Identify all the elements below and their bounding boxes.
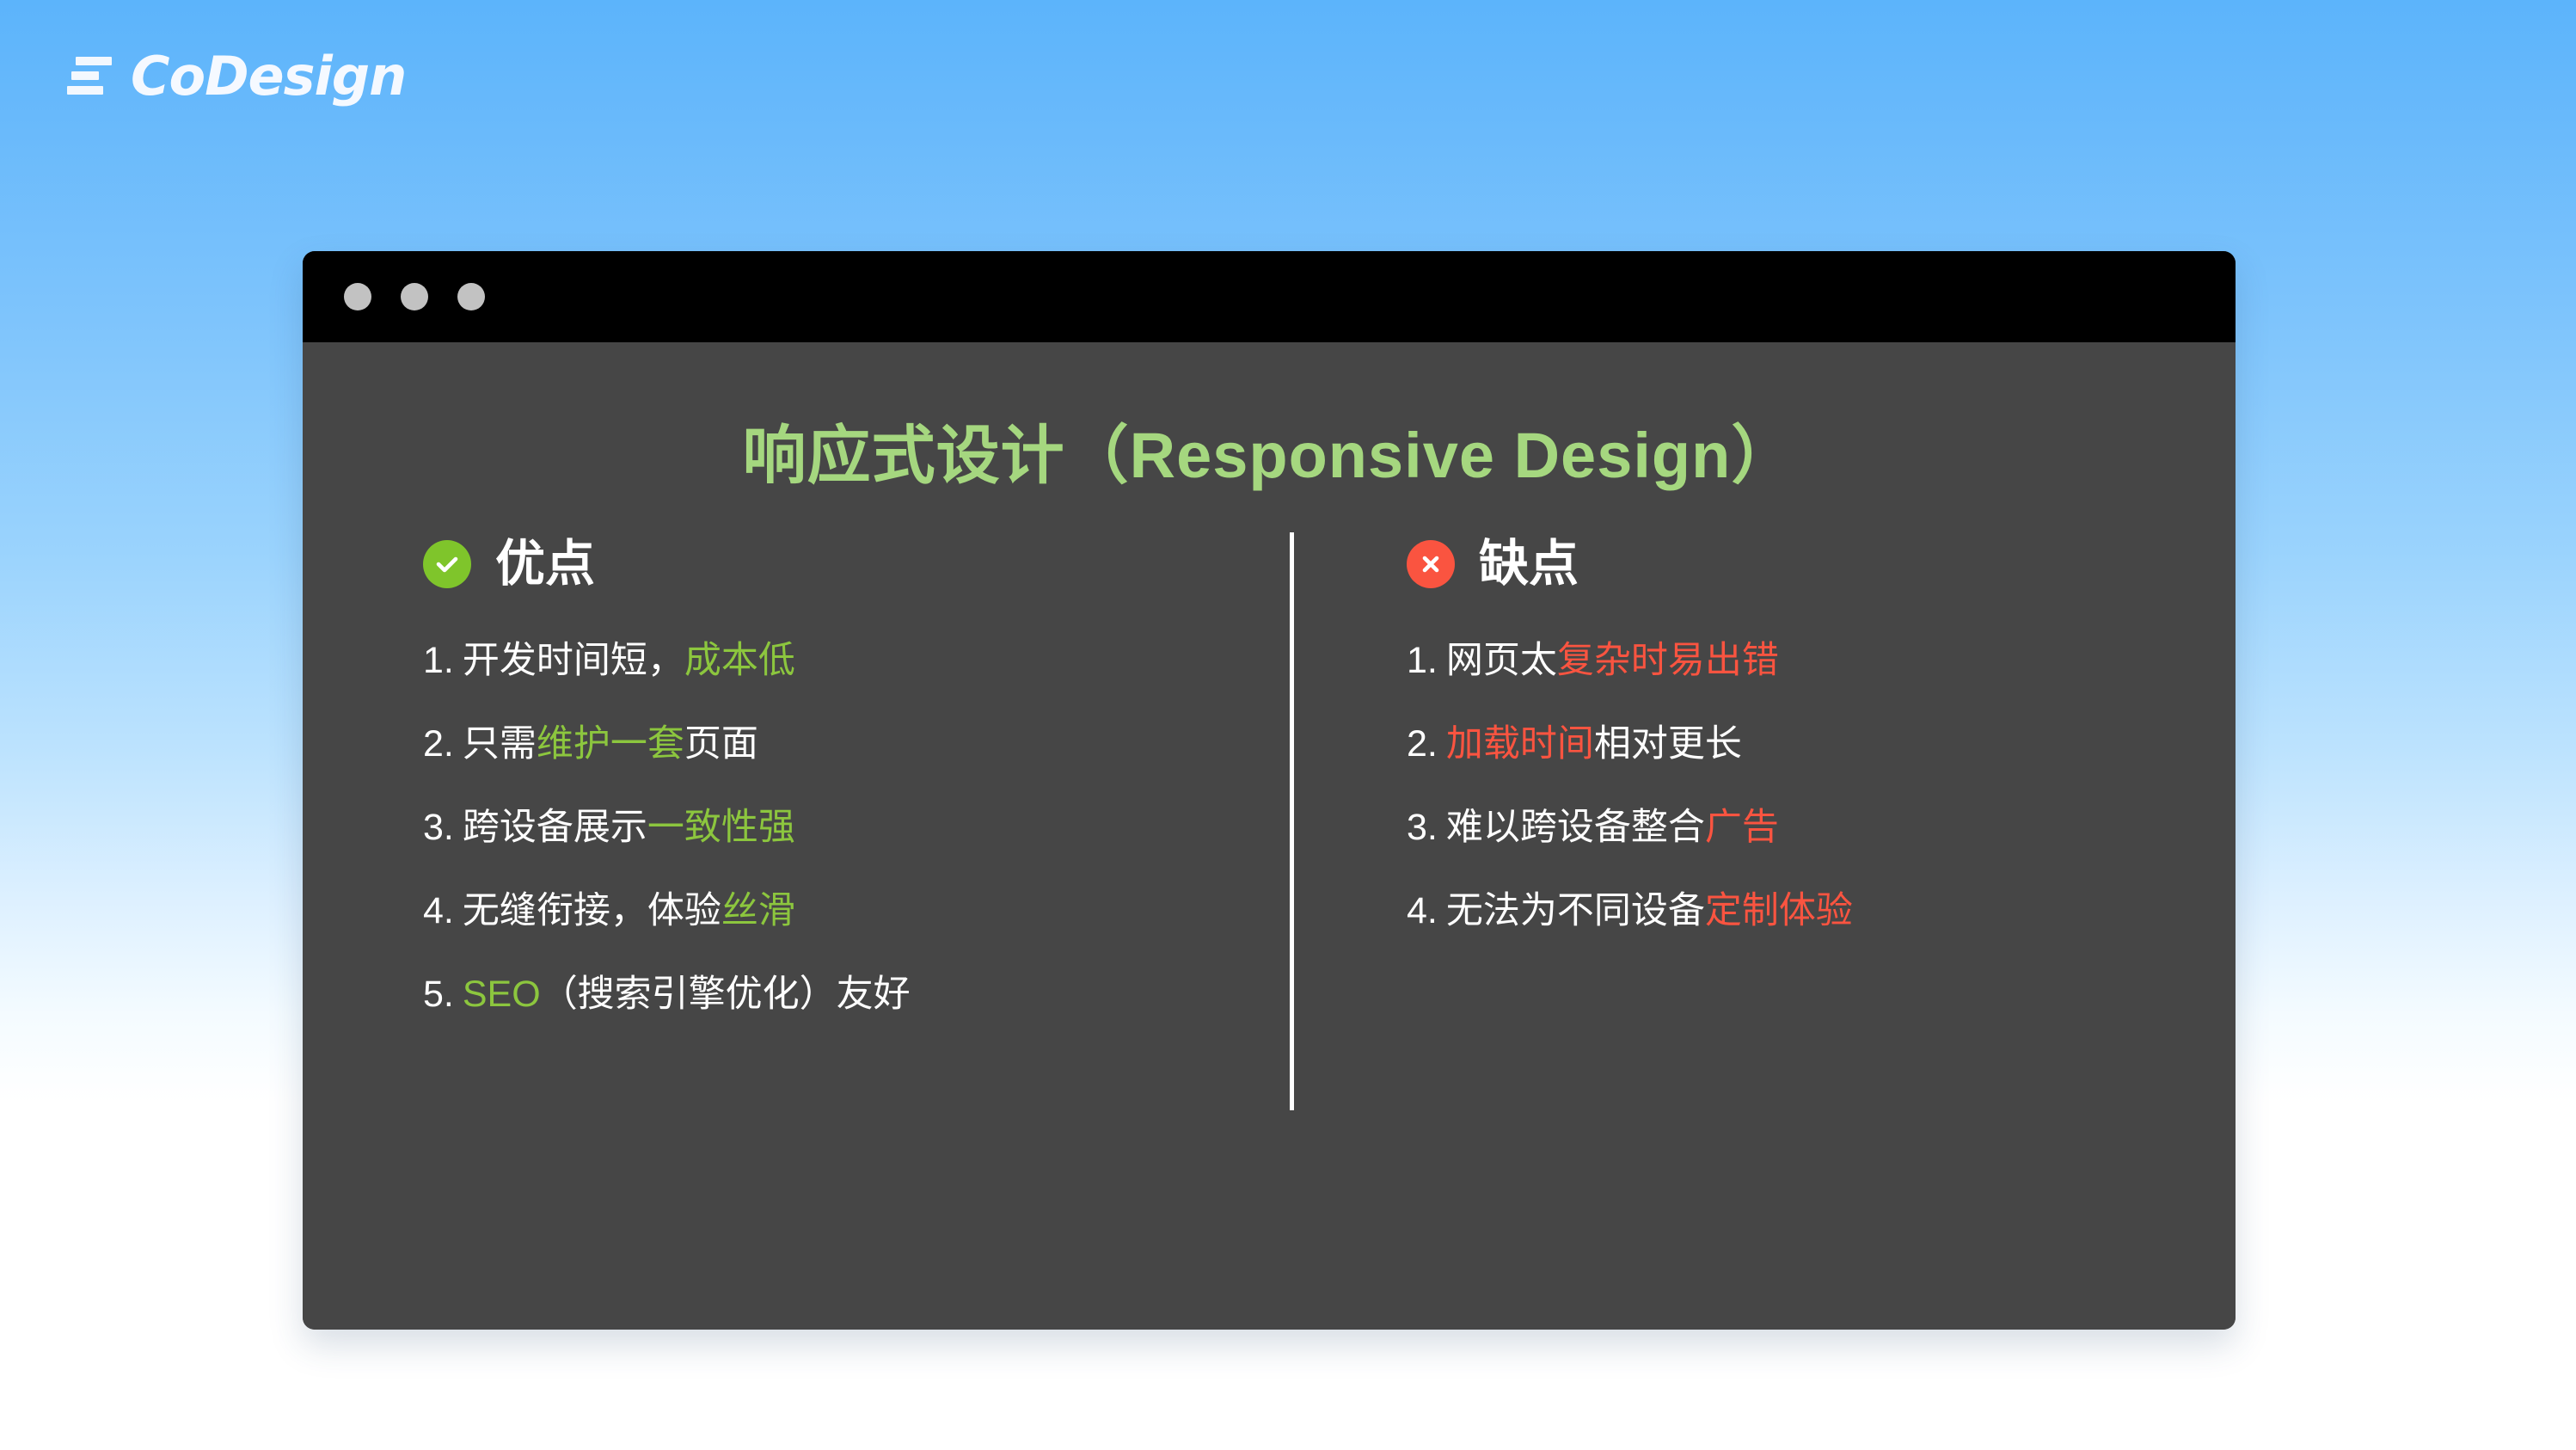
list-item-number: 2. xyxy=(1407,723,1438,765)
cons-column: 缺点 1.网页太复杂时易出错2.加载时间相对更长3.难以跨设备整合广告4.无法为… xyxy=(1269,539,2115,1060)
list-item-number: 4. xyxy=(423,890,454,931)
list-item-number: 5. xyxy=(423,974,454,1015)
window-dot-minimize-icon[interactable] xyxy=(401,283,428,310)
list-item-number: 1. xyxy=(423,640,454,681)
cons-header: 缺点 xyxy=(1407,539,2115,589)
list-item: 2.只需维护一套页面 xyxy=(423,726,1269,763)
list-item: 1.网页太复杂时易出错 xyxy=(1407,642,2115,679)
list-item-text: 网页太 xyxy=(1446,640,1557,681)
list-item: 4.无缝衔接，体验丝滑 xyxy=(423,893,1269,930)
window-titlebar xyxy=(303,251,2236,342)
brand-name: CoDesign xyxy=(131,50,406,103)
three-bars-logo-icon xyxy=(67,53,112,100)
list-item-text: 成本低 xyxy=(684,640,795,681)
list-item-text: 只需 xyxy=(463,723,537,765)
list-item-number: 1. xyxy=(1407,640,1438,681)
list-item-number: 3. xyxy=(1407,807,1438,848)
list-item: 4.无法为不同设备定制体验 xyxy=(1407,893,2115,930)
list-item: 3.难以跨设备整合广告 xyxy=(1407,809,2115,846)
list-item-text: 广告 xyxy=(1705,807,1779,848)
list-item: 5.SEO（搜索引擎优化）友好 xyxy=(423,976,1269,1013)
list-item-text: 无缝衔接，体验 xyxy=(463,890,721,931)
list-item-text: 开发时间短， xyxy=(463,640,684,681)
list-item-number: 3. xyxy=(423,807,454,848)
list-item: 3.跨设备展示一致性强 xyxy=(423,809,1269,846)
list-item-text: 定制体验 xyxy=(1705,890,1853,931)
brand-logo: CoDesign xyxy=(67,50,406,103)
pros-cons-columns: 优点 1.开发时间短，成本低2.只需维护一套页面3.跨设备展示一致性强4.无缝衔… xyxy=(303,539,2236,1060)
column-divider xyxy=(1290,532,1294,1110)
page-title: 响应式设计（Responsive Design） xyxy=(303,342,2236,496)
list-item-text: 一致性强 xyxy=(647,807,795,848)
check-circle-icon xyxy=(423,540,471,588)
list-item-text: 无法为不同设备 xyxy=(1446,890,1705,931)
list-item-text: SEO xyxy=(463,974,541,1015)
slide-body: 响应式设计（Responsive Design） 优点 1.开发时间短，成本低2… xyxy=(303,342,2236,1330)
x-circle-icon xyxy=(1407,540,1455,588)
pros-column: 优点 1.开发时间短，成本低2.只需维护一套页面3.跨设备展示一致性强4.无缝衔… xyxy=(423,539,1269,1060)
list-item-number: 2. xyxy=(423,723,454,765)
list-item-text: （搜索引擎优化）友好 xyxy=(541,974,911,1015)
pros-list: 1.开发时间短，成本低2.只需维护一套页面3.跨设备展示一致性强4.无缝衔接，体… xyxy=(423,642,1269,1013)
list-item: 2.加载时间相对更长 xyxy=(1407,726,2115,763)
list-item-number: 4. xyxy=(1407,890,1438,931)
list-item-text: 跨设备展示 xyxy=(463,807,647,848)
pros-header: 优点 xyxy=(423,539,1269,589)
list-item-text: 丝滑 xyxy=(721,890,795,931)
list-item: 1.开发时间短，成本低 xyxy=(423,642,1269,679)
list-item-text: 复杂时易出错 xyxy=(1557,640,1779,681)
browser-window-card: 响应式设计（Responsive Design） 优点 1.开发时间短，成本低2… xyxy=(303,251,2236,1330)
list-item-text: 难以跨设备整合 xyxy=(1446,807,1705,848)
cons-list: 1.网页太复杂时易出错2.加载时间相对更长3.难以跨设备整合广告4.无法为不同设… xyxy=(1407,642,2115,930)
window-dot-maximize-icon[interactable] xyxy=(457,283,485,310)
cons-heading: 缺点 xyxy=(1479,539,1579,589)
window-dot-close-icon[interactable] xyxy=(344,283,371,310)
list-item-text: 维护一套 xyxy=(537,723,684,765)
list-item-text: 加载时间 xyxy=(1446,723,1594,765)
pros-heading: 优点 xyxy=(495,539,595,589)
list-item-text: 相对更长 xyxy=(1594,723,1742,765)
list-item-text: 页面 xyxy=(684,723,758,765)
